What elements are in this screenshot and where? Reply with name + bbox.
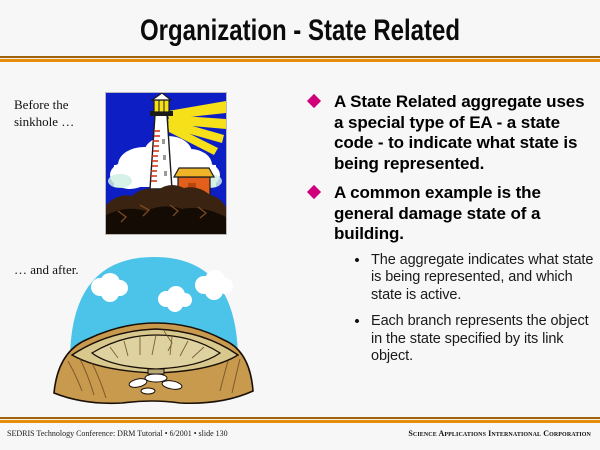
diamond-bullet-icon	[307, 94, 321, 108]
dot-bullet-icon	[354, 318, 360, 324]
divider-bright-line	[0, 420, 600, 423]
bullet-item-2-text: A common example is the general damage s…	[334, 183, 541, 243]
divider-bright-line	[0, 59, 600, 62]
footer-right-text: Science Applications International Corpo…	[408, 428, 591, 439]
lighthouse-illustration	[106, 93, 226, 234]
sub-bullet-item-2-text: Each branch represents the object in the…	[371, 313, 589, 364]
sinkhole-illustration	[52, 243, 257, 408]
bullet-item-1: A State Related aggregate uses a special…	[306, 92, 594, 174]
bullet-item-2: A common example is the general damage s…	[306, 183, 594, 366]
diamond-bullet-icon	[307, 185, 321, 199]
footer-left-text: SEDRIS Technology Conference: DRM Tutori…	[7, 428, 228, 439]
page-title: Organization - State Related	[60, 14, 540, 48]
header-divider	[0, 56, 600, 62]
sub-bullet-list: The aggregate indicates what state is be…	[334, 252, 594, 366]
sinkhole-image	[52, 243, 257, 408]
sub-bullet-item-2: Each branch represents the object in the…	[352, 313, 594, 366]
sub-bullet-item-1-text: The aggregate indicates what state is be…	[371, 252, 593, 303]
bullet-list: A State Related aggregate uses a special…	[306, 92, 594, 375]
lighthouse-image	[105, 92, 227, 235]
sub-bullet-item-1: The aggregate indicates what state is be…	[352, 252, 594, 305]
caption-before-sinkhole: Before the sinkhole …	[14, 96, 104, 130]
dot-bullet-icon	[354, 257, 360, 263]
bullet-item-1-text: A State Related aggregate uses a special…	[334, 92, 585, 173]
footer-divider	[0, 417, 600, 423]
